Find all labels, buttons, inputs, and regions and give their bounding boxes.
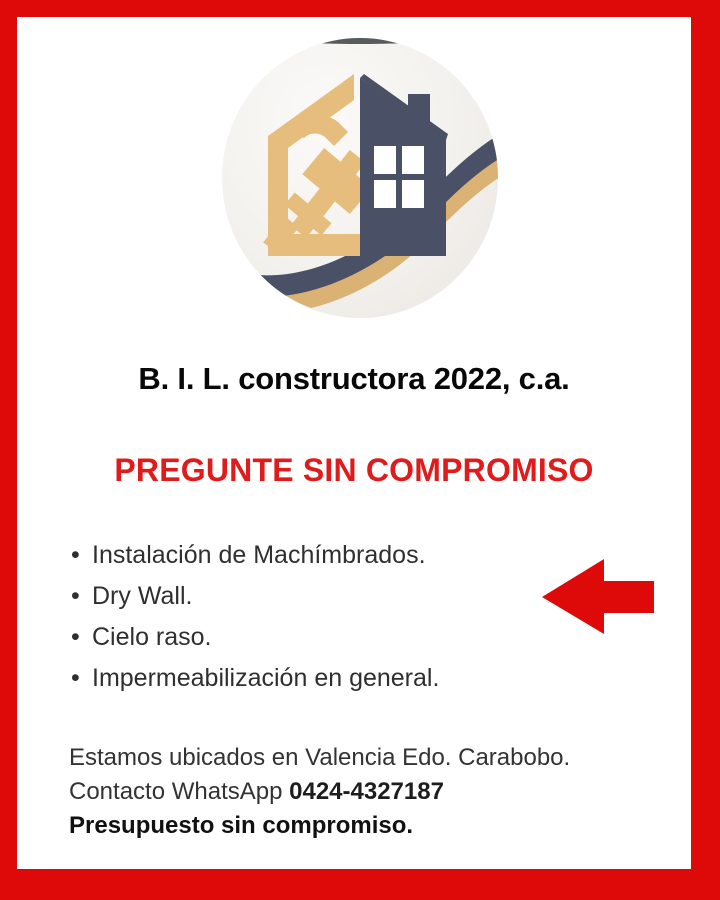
whatsapp-label: Contacto WhatsApp — [69, 778, 282, 805]
logo-artwork-icon — [222, 38, 498, 318]
list-item: • Instalación de Machímbrados. — [71, 535, 439, 576]
service-label: Cielo raso. — [92, 623, 212, 651]
company-name: B. I. L. constructora 2022, c.a. — [17, 361, 691, 397]
list-item: • Impermeabilización en general. — [71, 658, 439, 699]
bullet-icon: • — [71, 658, 80, 699]
flyer-poster: B. I. L. constructora 2022, c.a. PREGUNT… — [0, 0, 720, 900]
services-list: • Instalación de Machímbrados. • Dry Wal… — [71, 535, 439, 699]
service-label: Instalación de Machímbrados. — [92, 541, 426, 569]
bullet-icon: • — [71, 576, 80, 617]
whatsapp-line: Contacto WhatsApp 0424-4327187 — [69, 775, 570, 809]
bullet-icon: • — [71, 535, 80, 576]
service-label: Impermeabilización en general. — [92, 664, 439, 692]
tagline-headline: PREGUNTE SIN COMPROMISO — [17, 452, 691, 489]
service-label: Dry Wall. — [92, 582, 192, 610]
company-logo — [222, 38, 498, 318]
left-arrow-icon — [542, 559, 654, 634]
bullet-icon: • — [71, 617, 80, 658]
list-item: • Dry Wall. — [71, 576, 439, 617]
contact-block: Estamos ubicados en Valencia Edo. Carabo… — [69, 741, 570, 843]
logo-tan-base — [288, 234, 372, 256]
closing-line: Presupuesto sin compromiso. — [69, 809, 570, 843]
phone-number[interactable]: 0424-4327187 — [289, 778, 444, 805]
flyer-inner-card: B. I. L. constructora 2022, c.a. PREGUNT… — [17, 17, 691, 869]
logo-circle-frame — [222, 38, 498, 318]
location-line: Estamos ubicados en Valencia Edo. Carabo… — [69, 741, 570, 775]
list-item: • Cielo raso. — [71, 617, 439, 658]
